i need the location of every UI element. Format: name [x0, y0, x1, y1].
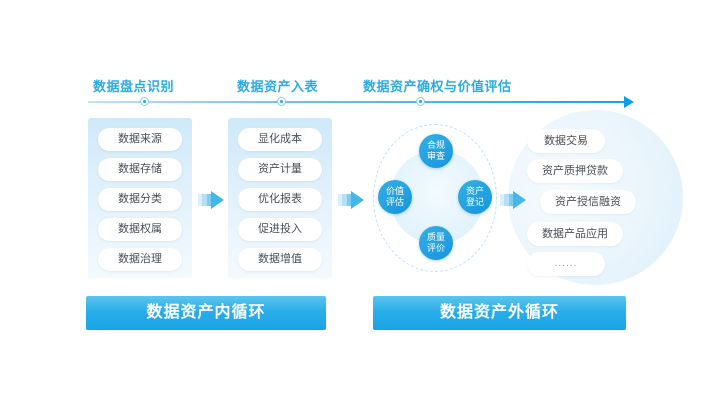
stage2-item-4[interactable]: 促进投入 [238, 218, 322, 241]
node-line-1: 质量 [427, 232, 445, 243]
timeline-axis [88, 101, 626, 103]
stage2-item-3[interactable]: 优化报表 [238, 188, 322, 211]
outer-item-ellipsis: ...... [527, 252, 605, 276]
outer-item-data-trading[interactable]: 数据交易 [527, 129, 605, 153]
cluster-node-asset-registration[interactable]: 资产 登记 [458, 180, 492, 214]
node-line-1: 资产 [466, 186, 484, 197]
banner-external-cycle: 数据资产外循环 [373, 296, 626, 330]
arrow-right-icon-1 [198, 191, 228, 209]
stage1-item-4[interactable]: 数据权属 [98, 218, 182, 241]
arrow-tip-2 [351, 191, 364, 209]
arrow-bars-1 [198, 194, 212, 206]
stage-panel-2: 显化成本 资产计量 优化报表 促进投入 数据增值 [228, 118, 332, 278]
valuation-cluster: 合规 审查 资产 登记 质量 评价 价值 评估 [372, 122, 500, 274]
arrow-right-icon-2 [338, 191, 368, 209]
timeline-dot-1 [140, 97, 149, 106]
outer-item-data-product-application[interactable]: 数据产品应用 [527, 222, 623, 246]
arrow-tip-1 [211, 191, 224, 209]
arrow-bars-2 [338, 194, 352, 206]
node-line-2: 登记 [466, 197, 484, 208]
stage2-item-1[interactable]: 显化成本 [238, 128, 322, 151]
phase-label-3: 数据资产确权与价值评估 [363, 76, 512, 95]
timeline-dot-2 [277, 97, 286, 106]
node-line-1: 价值 [386, 186, 404, 197]
phase-label-2: 数据资产入表 [237, 76, 318, 95]
arrow-tip-3 [513, 191, 526, 209]
stage-panel-1: 数据来源 数据存储 数据分类 数据权属 数据治理 [88, 118, 192, 278]
stage1-item-5[interactable]: 数据治理 [98, 248, 182, 271]
phase-label-1: 数据盘点识别 [93, 76, 174, 95]
node-line-2: 审查 [427, 151, 445, 162]
outer-item-asset-credit-financing[interactable]: 资产授信融资 [540, 190, 636, 214]
cluster-node-compliance-review[interactable]: 合规 审查 [419, 134, 453, 168]
stage1-item-3[interactable]: 数据分类 [98, 188, 182, 211]
timeline-dot-3 [416, 97, 425, 106]
timeline-arrow-icon [624, 96, 634, 108]
stage2-item-5[interactable]: 数据增值 [238, 248, 322, 271]
diagram-canvas: 数据盘点识别 数据资产入表 数据资产确权与价值评估 数据来源 数据存储 数据分类… [0, 0, 722, 406]
cluster-node-value-assessment[interactable]: 价值 评估 [378, 180, 412, 214]
arrow-right-icon-3 [500, 191, 530, 209]
cluster-node-quality-evaluation[interactable]: 质量 评价 [419, 226, 453, 260]
arrow-bars-3 [500, 194, 514, 206]
stage1-item-1[interactable]: 数据来源 [98, 128, 182, 151]
node-line-1: 合规 [427, 140, 445, 151]
banner-internal-cycle: 数据资产内循环 [86, 296, 326, 330]
outer-item-asset-pledge-loan[interactable]: 资产质押贷款 [527, 159, 623, 183]
stage1-item-2[interactable]: 数据存储 [98, 158, 182, 181]
stage2-item-2[interactable]: 资产计量 [238, 158, 322, 181]
node-line-2: 评价 [427, 243, 445, 254]
node-line-2: 评估 [386, 197, 404, 208]
